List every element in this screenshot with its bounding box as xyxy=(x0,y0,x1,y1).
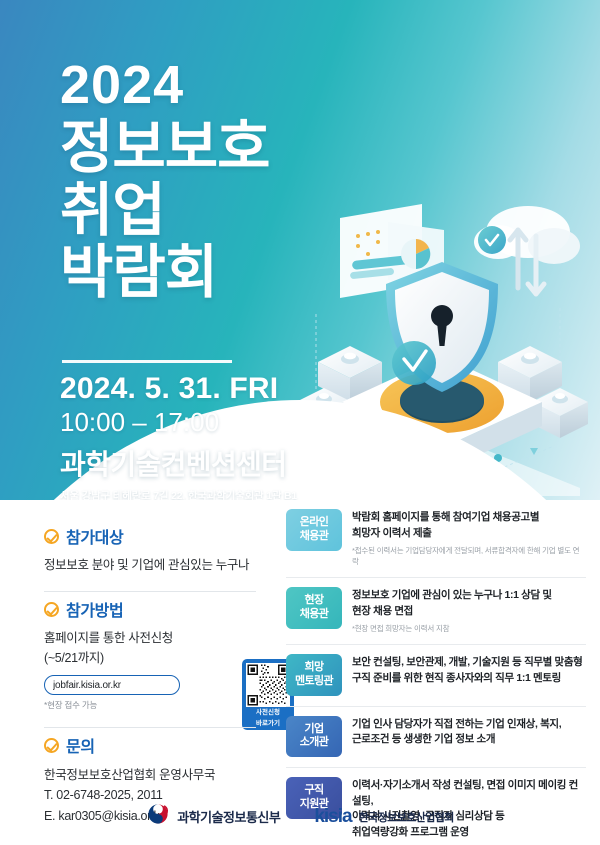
program-body: 정보보호 기업에 관심이 있는 누구나 1:1 상담 및 현장 채용 면접 *현… xyxy=(352,587,586,634)
program-tab-label-line-2: 소개관 xyxy=(288,736,340,750)
program-tab-label-line-1: 온라인 xyxy=(288,516,340,530)
program-note: *접수된 이력서는 기업담당자에게 전달되며, 서류합격자에 한해 기업 별도 … xyxy=(352,545,586,567)
program-note: *현장 면접 희망자는 이력서 지참 xyxy=(352,623,586,634)
program-body: 보안 컨설팅, 보안관제, 개발, 기술지원 등 직무별 맞춤형 구직 준비를 … xyxy=(352,654,586,686)
registration-url-input[interactable] xyxy=(45,680,180,691)
program-desc-line-1: 보안 컨설팅, 보안관제, 개발, 기술지원 등 직무별 맞춤형 xyxy=(352,655,586,671)
kisia-name: 한국정보보호산업협회 xyxy=(359,809,454,825)
program-desc-line-1: 박람회 홈페이지를 통해 참여기업 채용공고별 xyxy=(352,510,586,526)
title-line-2: 취업 xyxy=(60,180,269,243)
event-time: 10:00 – 17:00 xyxy=(60,407,297,438)
program-desc-line-2: 현장 채용 면접 xyxy=(352,604,586,620)
program-desc-line-1: 기업 인사 담당자가 직접 전하는 기업 인재상, 복지, xyxy=(352,717,586,733)
msit-logo: 과학기술정보통신부 xyxy=(146,802,280,831)
event-address: 서울 강남구 테헤란로 7길 22, 한국과학기술회관 1관 B1 xyxy=(60,488,297,500)
title-divider xyxy=(62,360,232,363)
title-year: 2024 xyxy=(60,58,269,113)
check-circle-icon xyxy=(44,529,59,544)
footer-logos: 과학기술정보통신부 kisia 한국정보보호산업협회 xyxy=(0,802,600,831)
method-heading: 참가방법 xyxy=(66,597,123,621)
program-desc-line-2: 근로조건 등 생생한 기업 정보 소개 xyxy=(352,732,586,748)
info-section-method: 참가방법 홈페이지를 통한 사전신청 (~5/21까지) xyxy=(44,597,280,723)
poster-root: 2024 정보보호 취업 박람회 2024. 5. 31. FRI 10:00 … xyxy=(0,0,600,845)
program-tab-label-line-2: 채용관 xyxy=(288,608,340,622)
poster-title: 2024 정보보호 취업 박람회 xyxy=(60,58,269,305)
event-date: 2024. 5. 31. FRI xyxy=(60,372,297,406)
program-tab-label-line-1: 현장 xyxy=(288,594,340,608)
title-line-3: 박람회 xyxy=(60,242,269,305)
program-tab-label-line-2: 채용관 xyxy=(288,530,340,544)
program-list: 온라인 채용관 박람회 홈페이지를 통해 참여기업 채용공고별 희망자 이력서 … xyxy=(286,500,586,845)
program-tab-label-line-1: 기업 xyxy=(288,723,340,737)
event-venue: 과학기술컨벤션센터 xyxy=(60,443,297,483)
kisia-wordmark: kisia xyxy=(314,806,351,828)
audience-heading-row: 참가대상 xyxy=(44,524,280,548)
audience-heading: 참가대상 xyxy=(66,524,123,548)
title-line-1: 정보보호 xyxy=(60,117,269,180)
info-section-audience: 참가대상 정보보호 분야 및 기업에 관심있는 누구나 xyxy=(44,524,280,587)
program-tab-label-line-1: 희망 xyxy=(288,661,340,675)
check-circle-icon xyxy=(44,738,59,753)
inquiry-heading: 문의 xyxy=(66,733,95,757)
program-row: 기업 소개관 기업 인사 담당자가 직접 전하는 기업 인재상, 복지, 근로조… xyxy=(286,707,586,769)
registration-url-pill[interactable] xyxy=(44,675,180,695)
check-circle-icon xyxy=(44,602,59,617)
program-body: 박람회 홈페이지를 통해 참여기업 채용공고별 희망자 이력서 제출 *접수된 … xyxy=(352,509,586,567)
program-tab-company-intro[interactable]: 기업 소개관 xyxy=(286,716,342,758)
hero-banner: 2024 정보보호 취업 박람회 2024. 5. 31. FRI 10:00 … xyxy=(0,0,600,500)
method-text-line-1: 홈페이지를 통한 사전신청 xyxy=(44,629,280,648)
program-desc-line-2: 구직 준비를 위한 현직 종사자와의 직무 1:1 멘토링 xyxy=(352,671,586,687)
method-heading-row: 참가방법 xyxy=(44,597,280,621)
taegeuk-icon xyxy=(146,802,170,831)
audience-text: 정보보호 분야 및 기업에 관심있는 누구나 xyxy=(44,556,280,575)
qr-caption-line-1: 사전신청 xyxy=(246,709,290,717)
program-tab-online[interactable]: 온라인 채용관 xyxy=(286,509,342,551)
program-tab-mentoring[interactable]: 희망 멘토링관 xyxy=(286,654,342,696)
inquiry-heading-row: 문의 xyxy=(44,733,280,757)
program-row: 현장 채용관 정보보호 기업에 관심이 있는 누구나 1:1 상담 및 현장 채… xyxy=(286,578,586,645)
event-details: 2024. 5. 31. FRI 10:00 – 17:00 과학기술컨벤션센터… xyxy=(60,372,297,500)
info-column: 참가대상 정보보호 분야 및 기업에 관심있는 누구나 참가방법 홈페이지를 통… xyxy=(44,524,280,838)
msit-name: 과학기술정보통신부 xyxy=(177,807,280,826)
program-tab-label-line-1: 구직 xyxy=(288,784,340,798)
qr-code-icon xyxy=(246,663,290,707)
program-desc-line-2: 희망자 이력서 제출 xyxy=(352,526,586,542)
kisia-logo: kisia 한국정보보호산업협회 xyxy=(314,806,453,828)
inquiry-organization: 한국정보보호산업협회 운영사무국 xyxy=(44,765,280,785)
program-desc-line-1: 정보보호 기업에 관심이 있는 누구나 1:1 상담 및 xyxy=(352,588,586,604)
program-body: 기업 인사 담당자가 직접 전하는 기업 인재상, 복지, 근로조건 등 생생한… xyxy=(352,716,586,748)
program-tab-label-line-2: 멘토링관 xyxy=(288,675,340,689)
program-row: 희망 멘토링관 보안 컨설팅, 보안관제, 개발, 기술지원 등 직무별 맞춤형… xyxy=(286,645,586,707)
program-row: 온라인 채용관 박람회 홈페이지를 통해 참여기업 채용공고별 희망자 이력서 … xyxy=(286,500,586,578)
program-tab-onsite[interactable]: 현장 채용관 xyxy=(286,587,342,629)
